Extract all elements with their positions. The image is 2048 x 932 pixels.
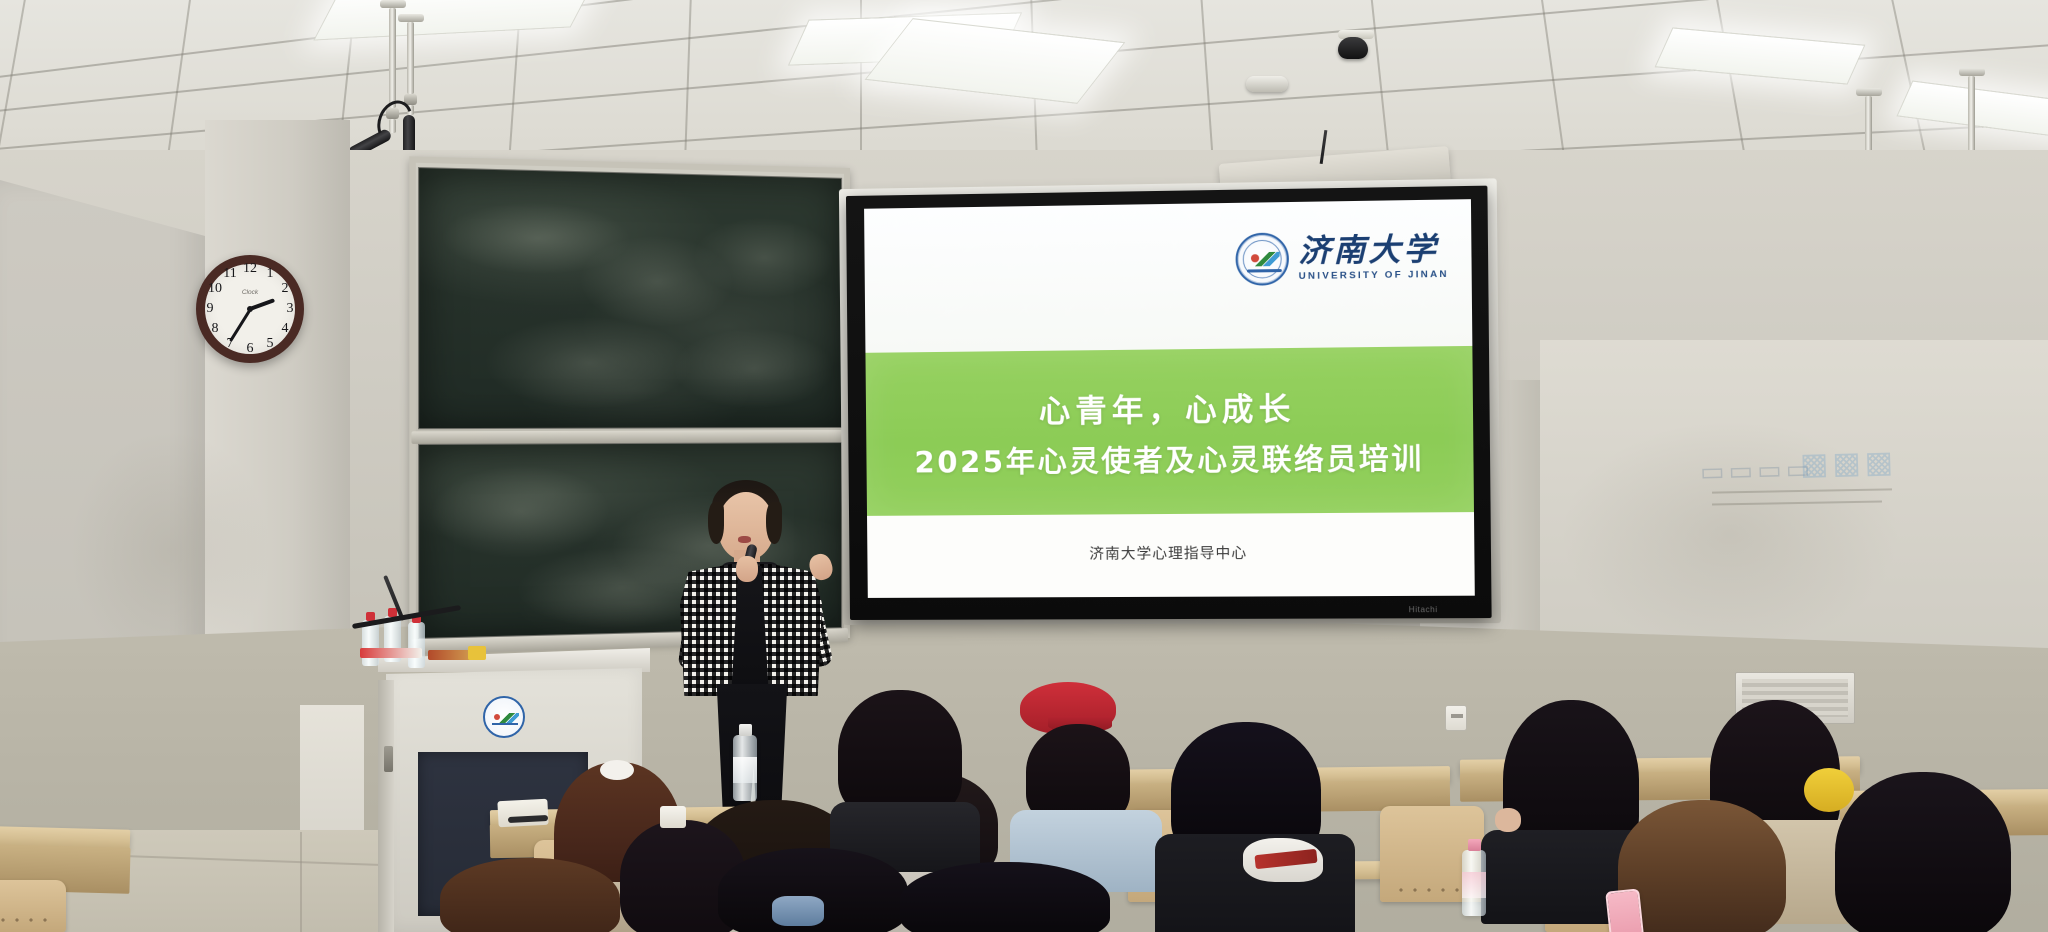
slide-title-band: 心青年，心成长 2025年心灵使者及心灵联络员培训 xyxy=(865,346,1474,516)
wall-clock: Clock 12 1 2 3 4 5 6 7 8 9 10 11 xyxy=(196,255,304,363)
pink-tumbler xyxy=(1462,850,1486,916)
power-outlet xyxy=(1445,705,1467,731)
audience-member xyxy=(1618,800,1798,932)
clock-numeral: 5 xyxy=(261,336,279,352)
audience-member xyxy=(900,862,1110,932)
university-name-en: UNIVERSITY OF JINAN xyxy=(1299,270,1449,282)
slide-footer: 济南大学心理指导中心 xyxy=(867,512,1475,598)
hanging-microphone xyxy=(404,14,424,161)
clock-numeral: 2 xyxy=(276,281,294,297)
smoke-detector-icon xyxy=(1246,76,1288,92)
projection-screen: 济南大学 UNIVERSITY OF JINAN 心青年，心成长 2025年心灵… xyxy=(846,186,1492,620)
clock-numeral: 11 xyxy=(221,266,239,282)
clock-center-pin xyxy=(247,306,253,312)
hair-scrunchie xyxy=(772,896,824,926)
university-name-cn: 济南大学 xyxy=(1298,234,1439,268)
clock-brand: Clock xyxy=(242,289,258,296)
blackboard-panel-upper xyxy=(418,167,842,429)
wall-marking: ▭▭▭▭ xyxy=(1700,454,1815,488)
water-bottle xyxy=(408,622,425,668)
audience-member xyxy=(1010,682,1150,852)
notebook xyxy=(497,799,548,828)
clock-minute-hand xyxy=(229,308,252,342)
audience-member xyxy=(1165,722,1345,932)
clock-numeral: 3 xyxy=(281,301,299,317)
presentation-slide: 济南大学 UNIVERSITY OF JINAN 心青年，心成长 2025年心灵… xyxy=(864,199,1475,598)
screen-brand-label: Hitachi xyxy=(1409,605,1438,614)
water-bottle xyxy=(733,735,757,801)
cup xyxy=(660,806,686,828)
desk-item xyxy=(360,648,422,658)
slide-header: 济南大学 UNIVERSITY OF JINAN xyxy=(864,199,1472,353)
hair-scrunchie xyxy=(600,760,634,780)
wall-marking: ▩▩▩ xyxy=(1800,445,1898,483)
desk-item xyxy=(468,646,486,660)
slide-subtitle: 济南大学心理指导中心 xyxy=(1089,542,1247,564)
university-logo: 济南大学 UNIVERSITY OF JINAN xyxy=(1236,230,1449,286)
clock-hour-hand xyxy=(249,298,275,311)
slide-title-secondary: 2025年心灵使者及心灵联络员培训 xyxy=(914,435,1424,481)
audience-member xyxy=(440,858,620,932)
lectern-university-emblem-icon xyxy=(483,696,525,738)
clock-numeral: 4 xyxy=(276,321,294,337)
hand xyxy=(1495,808,1521,832)
clock-numeral: 8 xyxy=(206,321,224,337)
slide-title-primary: 心青年，心成长 xyxy=(1039,383,1296,431)
clock-numeral: 12 xyxy=(241,261,259,277)
chair xyxy=(0,880,66,932)
audience-member xyxy=(838,690,968,840)
audience-member xyxy=(1835,772,2015,932)
clock-numeral: 10 xyxy=(206,281,224,297)
smartphone xyxy=(1605,888,1645,932)
clock-numeral: 9 xyxy=(201,301,219,317)
university-emblem-icon xyxy=(1236,232,1290,285)
audience-member xyxy=(718,848,908,932)
security-camera-icon xyxy=(1338,30,1374,59)
classroom-photo: ▭▭▭▭ ▩▩▩ Clock 12 1 2 3 4 5 6 7 8 9 10 1… xyxy=(0,0,2048,932)
clock-numeral: 1 xyxy=(261,266,279,282)
clock-numeral: 6 xyxy=(241,341,259,357)
